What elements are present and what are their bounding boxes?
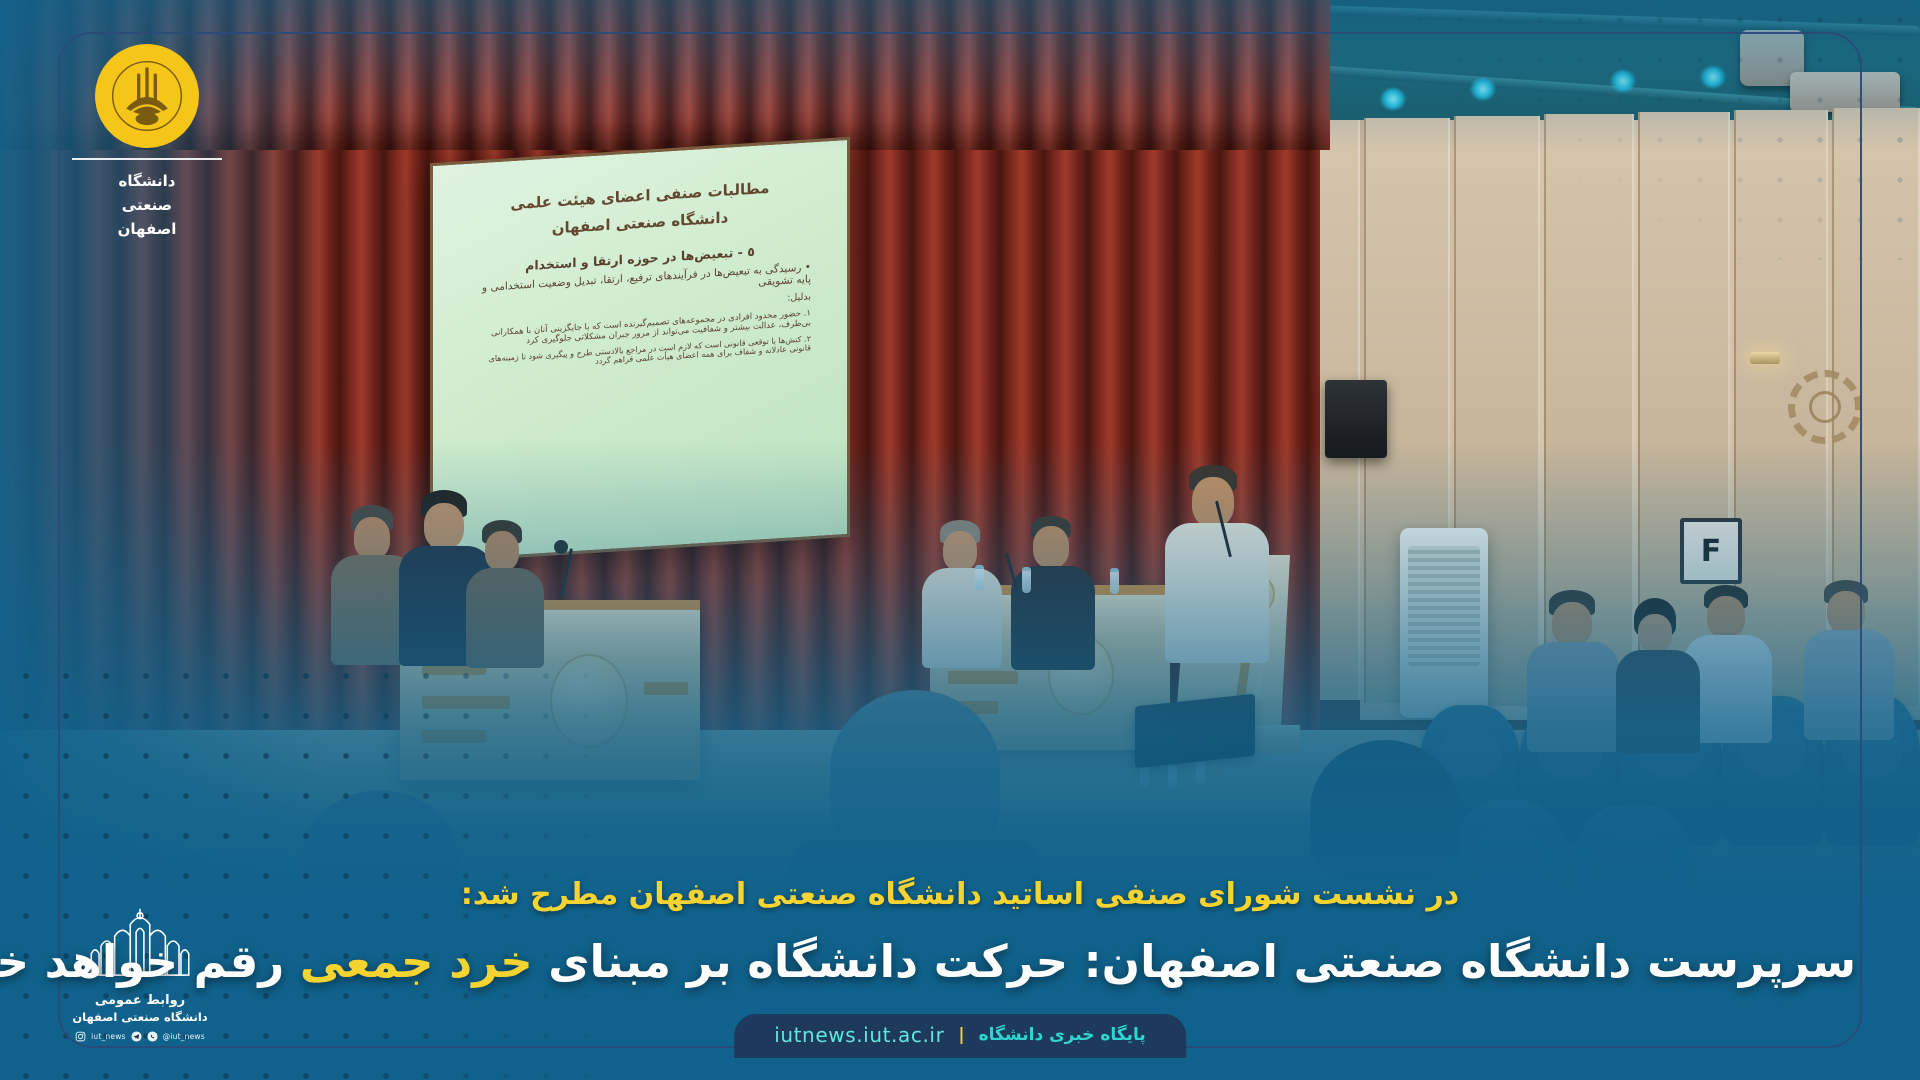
dot-pattern-overlay <box>1400 0 1920 260</box>
footer-url[interactable]: iutnews.iut.ac.ir <box>774 1023 944 1047</box>
headline-text: سرپرست دانشگاه صنعتی اصفهان: حرکت دانشگا… <box>64 935 1856 988</box>
messenger-handle: @iut_news <box>163 1032 205 1041</box>
instagram-handle: iut_news <box>91 1032 126 1041</box>
iut-seal-icon <box>95 44 199 148</box>
footer-separator: | <box>958 1025 964 1045</box>
wall-emblem-icon <box>1788 370 1862 444</box>
logo-line-2: صنعتی <box>72 193 222 217</box>
footer-site-label: پایگاه خبری دانشگاه <box>979 1025 1146 1045</box>
pr-label-line2: دانشگاه صنعتی اصفهان <box>60 1010 220 1024</box>
kicker-text: در نشست شورای صنفی اساتید دانشگاه صنعتی … <box>84 877 1836 912</box>
social-handles: iut_news @iut_news <box>60 1031 220 1042</box>
headline-part-1: سرپرست دانشگاه صنعتی اصفهان: حرکت دانشگا… <box>533 935 1856 988</box>
iut-logo-top-label: دانشگاه صنعتی اصفهان <box>72 158 222 241</box>
pr-label-line1: روابط عمومی <box>60 993 220 1008</box>
headline-part-2: رقم خواهد خورد <box>0 935 300 988</box>
iut-logo-top: دانشگاه صنعتی اصفهان <box>72 44 222 241</box>
whatsapp-icon[interactable] <box>147 1031 158 1042</box>
slide-bullets: ٥ - تبعیض‌ها در حوزه ارتقا و استخدام • ر… <box>469 240 811 374</box>
footer-bar: پایگاه خبری دانشگاه | iutnews.iut.ac.ir <box>734 1014 1186 1058</box>
logo-line-1: دانشگاه <box>72 169 222 193</box>
instagram-icon[interactable] <box>75 1031 86 1042</box>
wall-lamp <box>1750 352 1780 364</box>
news-banner: مطالبات صنفی اعضای هیئت علمی دانشگاه صنع… <box>0 0 1920 1080</box>
logo-line-3: اصفهان <box>72 217 222 241</box>
telegram-icon[interactable] <box>131 1031 142 1042</box>
headline-highlight: خرد جمعی <box>300 935 533 988</box>
